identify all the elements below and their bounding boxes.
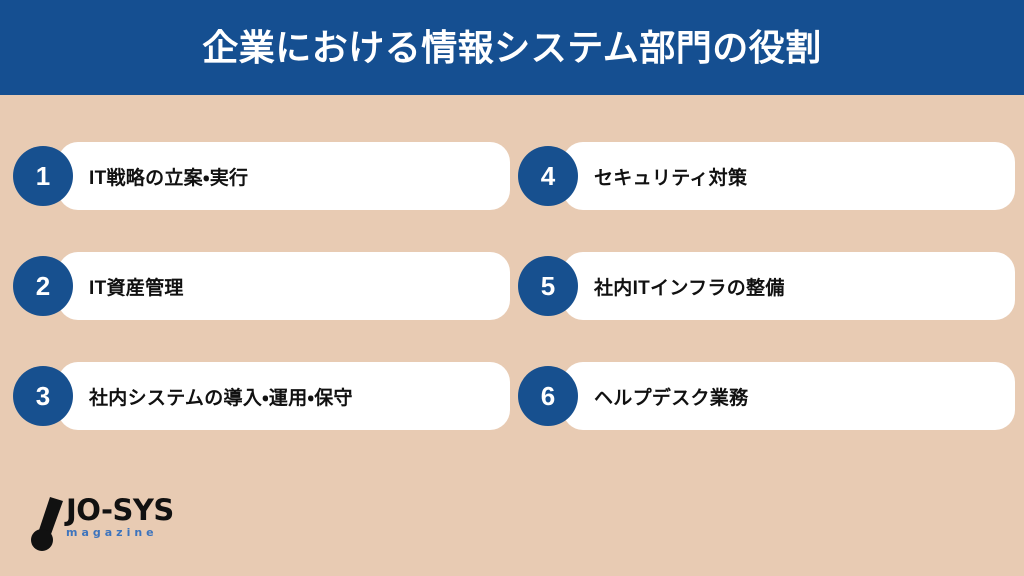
logo-text: JO-SYS magazine	[66, 495, 190, 539]
role-number-badge: 4	[518, 146, 578, 206]
header-bar: 企業における情報システム部門の役割	[0, 0, 1024, 95]
role-label: 社内ITインフラの整備	[594, 252, 785, 320]
role-number-badge: 1	[13, 146, 73, 206]
role-label: 社内システムの導入・運用・保守	[89, 362, 353, 430]
roles-column-right: 4 セキュリティ対策 5 社内ITインフラの整備 6 ヘルプデスク業務	[518, 95, 1015, 472]
slide: 企業における情報システム部門の役割 1 IT戦略の立案・実行 2 IT資産管理 …	[0, 0, 1024, 576]
brand-logo: JO-SYS magazine	[30, 495, 190, 557]
role-label: IT資産管理	[89, 252, 184, 320]
role-number-badge: 6	[518, 366, 578, 426]
list-item[interactable]: 2 IT資産管理	[13, 252, 510, 320]
music-note-icon	[30, 497, 66, 551]
role-number-badge: 2	[13, 256, 73, 316]
list-item[interactable]: 1 IT戦略の立案・実行	[13, 142, 510, 210]
list-item[interactable]: 6 ヘルプデスク業務	[518, 362, 1015, 430]
role-label: IT戦略の立案・実行	[89, 142, 248, 210]
list-item[interactable]: 4 セキュリティ対策	[518, 142, 1015, 210]
role-label: セキュリティ対策	[594, 142, 747, 210]
page-title: 企業における情報システム部門の役割	[202, 30, 821, 66]
roles-grid: 1 IT戦略の立案・実行 2 IT資産管理 3 社内システムの導入・運用・保守 …	[0, 95, 1024, 480]
role-number-badge: 5	[518, 256, 578, 316]
list-item[interactable]: 5 社内ITインフラの整備	[518, 252, 1015, 320]
logo-subtitle: magazine	[66, 526, 190, 539]
role-label: ヘルプデスク業務	[594, 362, 748, 430]
logo-wordmark: JO-SYS	[66, 495, 190, 525]
role-number-badge: 3	[13, 366, 73, 426]
list-item[interactable]: 3 社内システムの導入・運用・保守	[13, 362, 510, 430]
roles-column-left: 1 IT戦略の立案・実行 2 IT資産管理 3 社内システムの導入・運用・保守	[13, 95, 510, 472]
